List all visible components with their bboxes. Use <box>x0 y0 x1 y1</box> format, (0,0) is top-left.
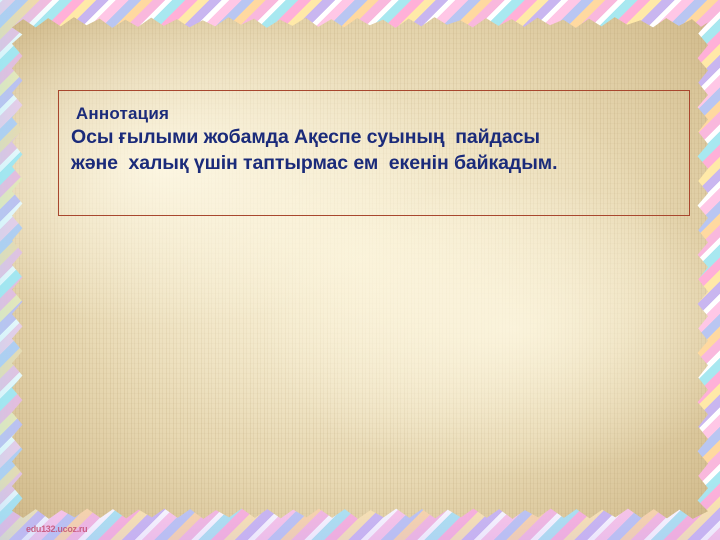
annotation-line-1: Осы ғылыми жобамда Ақеспе суының пайдасы <box>71 125 689 151</box>
annotation-title: Аннотация <box>71 103 689 125</box>
parchment-texture <box>12 12 708 524</box>
annotation-body: Аннотация Осы ғылыми жобамда Ақеспе суын… <box>59 91 689 177</box>
parchment-sheet <box>12 12 708 524</box>
annotation-line-2: және халық үшін таптырмас ем екенін байк… <box>71 151 689 177</box>
source-watermark: edu132.ucoz.ru <box>26 524 87 534</box>
annotation-text-box[interactable]: Аннотация Осы ғылыми жобамда Ақеспе суын… <box>58 90 690 216</box>
presentation-slide: Аннотация Осы ғылыми жобамда Ақеспе суын… <box>0 0 720 540</box>
